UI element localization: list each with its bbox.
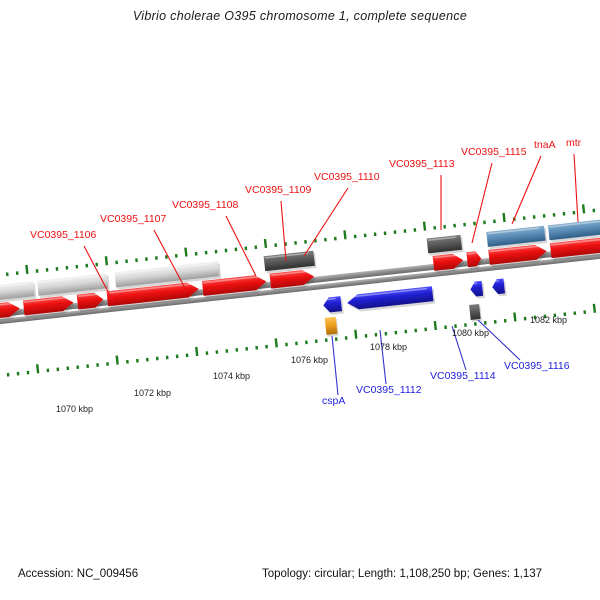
- tick-mark: [533, 215, 536, 219]
- tick-mark: [444, 325, 447, 329]
- gene-label-reverse-3[interactable]: VC0395_1116: [504, 360, 570, 372]
- tick-mark: [105, 256, 108, 265]
- tick-mark: [66, 266, 69, 270]
- gene-label-forward-3[interactable]: VC0395_1109: [245, 184, 312, 196]
- gene-label-forward-5[interactable]: VC0395_1113: [389, 158, 455, 170]
- tick-mark: [7, 373, 10, 377]
- accession-text: Accession: NC_009456: [18, 568, 138, 580]
- gene-label-forward-4[interactable]: VC0395_1110: [314, 171, 380, 183]
- tick-mark: [443, 225, 446, 229]
- tick-mark: [474, 322, 477, 326]
- ruler-tick-label-0: 1070 kbp: [56, 404, 93, 414]
- tick-mark: [225, 249, 228, 253]
- tick-mark: [573, 211, 576, 215]
- status-bar: Accession: NC_009456 Topology: circular;…: [0, 560, 600, 600]
- gene-labels-reverse[interactable]: cspAVC0395_1112VC0395_1114VC0395_1116: [322, 360, 570, 407]
- tick-mark: [176, 355, 179, 359]
- tick-mark: [324, 238, 327, 242]
- tick-mark: [375, 333, 378, 337]
- tick-mark: [464, 323, 467, 327]
- leader-line: [478, 320, 520, 360]
- tick-mark: [36, 269, 39, 273]
- tick-mark: [125, 259, 128, 263]
- tick-mark: [115, 261, 118, 265]
- tick-mark: [46, 268, 49, 272]
- tick-mark: [394, 331, 397, 335]
- tick-mark: [275, 338, 278, 347]
- tick-mark: [524, 317, 527, 321]
- leader-line: [281, 201, 286, 261]
- tick-mark: [56, 367, 59, 371]
- tick-mark: [215, 250, 218, 254]
- tick-mark: [592, 209, 595, 213]
- tick-mark: [56, 267, 59, 271]
- tick-mark: [25, 265, 28, 274]
- gene-VC0395_1105[interactable]: [37, 273, 110, 298]
- topology-text: Topology: circular; Length: 1,108,250 bp…: [262, 568, 542, 580]
- tick-mark: [493, 219, 496, 223]
- tick-mark: [76, 365, 79, 369]
- feature-grey-feature[interactable]: [469, 304, 482, 322]
- gene-VC0395_1113[interactable]: [427, 235, 464, 256]
- gene-label-reverse-2[interactable]: VC0395_1114: [430, 370, 496, 382]
- tick-mark: [345, 336, 348, 340]
- gene-labels-forward[interactable]: VC0395_1106VC0395_1107VC0395_1108VC0395_…: [30, 137, 582, 241]
- tick-mark: [186, 353, 189, 357]
- ruler-tick-label-2: 1074 kbp: [213, 371, 250, 381]
- tick-mark: [434, 321, 437, 330]
- tick-mark: [156, 357, 159, 361]
- tick-mark: [433, 226, 436, 230]
- leader-line: [380, 330, 386, 384]
- tick-mark: [95, 263, 98, 267]
- gene-label-forward-8[interactable]: mtr: [566, 137, 582, 149]
- tick-mark: [364, 234, 367, 238]
- gene-VC0395_1112[interactable]: [346, 286, 435, 313]
- tick-mark: [184, 247, 187, 256]
- tick-mark: [483, 221, 486, 225]
- tick-mark: [325, 338, 328, 342]
- tick-mark: [235, 348, 238, 352]
- tick-mark: [27, 371, 30, 375]
- tick-mark: [404, 330, 407, 334]
- gene-label-forward-2[interactable]: VC0395_1108: [172, 199, 239, 211]
- tick-mark: [274, 243, 277, 247]
- tick-mark: [155, 256, 158, 260]
- tick-mark: [295, 342, 298, 346]
- tick-mark: [384, 231, 387, 235]
- gene-label-reverse-0[interactable]: cspA: [322, 395, 345, 407]
- tick-mark: [294, 241, 297, 245]
- tick-mark: [573, 311, 576, 315]
- leader-line: [512, 156, 541, 224]
- tick-mark: [264, 239, 267, 248]
- tick-mark: [116, 356, 119, 365]
- tick-mark: [254, 245, 257, 249]
- ruler-tick-label-6: 1082 kbp: [530, 315, 567, 325]
- sequence-map[interactable]: VC0395_1106VC0395_1107VC0395_1108VC0395_…: [0, 0, 600, 540]
- tick-mark: [404, 229, 407, 233]
- tick-mark: [285, 343, 288, 347]
- tick-mark: [75, 265, 78, 269]
- feature-orange-feature[interactable]: [325, 317, 339, 337]
- tick-mark: [145, 257, 148, 261]
- ruler-tick-label-3: 1076 kbp: [291, 355, 328, 365]
- tick-mark: [255, 346, 258, 350]
- tick-mark: [543, 214, 546, 218]
- tick-mark: [365, 334, 368, 338]
- gene-cspA[interactable]: [322, 296, 343, 316]
- tick-mark: [502, 213, 505, 222]
- ruler-tick-label-1: 1072 kbp: [134, 388, 171, 398]
- tick-mark: [414, 329, 417, 333]
- tick-mark: [305, 340, 308, 344]
- tick-mark: [195, 252, 198, 256]
- tick-mark: [354, 235, 357, 239]
- tick-mark: [126, 360, 129, 364]
- tick-mark: [394, 230, 397, 234]
- tick-mark: [315, 339, 318, 343]
- gene-label-reverse-1[interactable]: VC0395_1112: [356, 384, 422, 396]
- tick-mark: [166, 356, 169, 360]
- tick-mark: [424, 328, 427, 332]
- tick-mark: [523, 216, 526, 220]
- tick-mark: [205, 251, 208, 255]
- tick-mark: [553, 213, 556, 217]
- gene-VC0395_1114[interactable]: [470, 281, 485, 300]
- tick-mark: [36, 364, 39, 373]
- tick-mark: [335, 337, 338, 341]
- tick-mark: [343, 230, 346, 239]
- tick-mark: [135, 258, 138, 262]
- tick-mark: [513, 312, 516, 321]
- tick-mark: [354, 330, 357, 339]
- tick-mark: [583, 310, 586, 314]
- tick-mark: [16, 271, 19, 275]
- page-title: Vibrio cholerae O395 chromosome 1, compl…: [0, 9, 600, 23]
- leader-line: [304, 188, 348, 256]
- tick-mark: [593, 304, 596, 313]
- tick-mark: [17, 372, 20, 376]
- tick-mark: [146, 358, 149, 362]
- gene-VC0395_1116[interactable]: [491, 278, 506, 297]
- tick-mark: [304, 240, 307, 244]
- gene-label-forward-6[interactable]: VC0395_1115: [461, 146, 527, 158]
- tick-mark: [413, 228, 416, 232]
- tick-mark: [47, 369, 50, 373]
- tick-mark: [494, 320, 497, 324]
- tick-mark: [504, 319, 507, 323]
- tick-mark: [423, 222, 426, 231]
- tick-mark: [66, 366, 69, 370]
- leader-line: [472, 163, 492, 243]
- tick-mark: [6, 272, 9, 276]
- tick-mark: [334, 237, 337, 241]
- tick-mark: [225, 349, 228, 353]
- tick-mark: [195, 347, 198, 356]
- tick-mark: [265, 345, 268, 349]
- leader-line: [226, 216, 256, 276]
- gene-label-forward-1[interactable]: VC0395_1107: [100, 213, 167, 225]
- ruler-tick-label-5: 1080 kbp: [452, 328, 489, 338]
- genome-viewer: Vibrio cholerae O395 chromosome 1, compl…: [0, 0, 600, 600]
- tick-mark: [235, 248, 238, 252]
- tick-mark: [463, 223, 466, 227]
- ruler-tick-labels: 1070 kbp1072 kbp1074 kbp1076 kbp1078 kbp…: [56, 315, 567, 414]
- ruler-tick-label-4: 1078 kbp: [370, 342, 407, 352]
- tick-mark: [136, 359, 139, 363]
- gene-VC0395_1110[interactable]: [264, 251, 317, 274]
- tick-mark: [85, 264, 88, 268]
- leader-line: [332, 336, 338, 395]
- tick-mark: [245, 347, 248, 351]
- tick-mark: [106, 362, 109, 366]
- tick-mark: [484, 321, 487, 325]
- tick-mark: [582, 204, 585, 213]
- tick-mark: [453, 224, 456, 228]
- tick-mark: [216, 350, 219, 354]
- gene-label-forward-7[interactable]: tnaA: [534, 139, 556, 151]
- tick-mark: [374, 232, 377, 236]
- tick-mark: [86, 364, 89, 368]
- tick-mark: [244, 246, 247, 250]
- tick-mark: [473, 222, 476, 226]
- gene-label-forward-0[interactable]: VC0395_1106: [30, 229, 97, 241]
- tick-mark: [96, 363, 99, 367]
- tick-mark: [563, 212, 566, 216]
- tick-mark: [385, 332, 388, 336]
- tick-mark: [175, 254, 178, 258]
- tick-mark: [206, 351, 209, 355]
